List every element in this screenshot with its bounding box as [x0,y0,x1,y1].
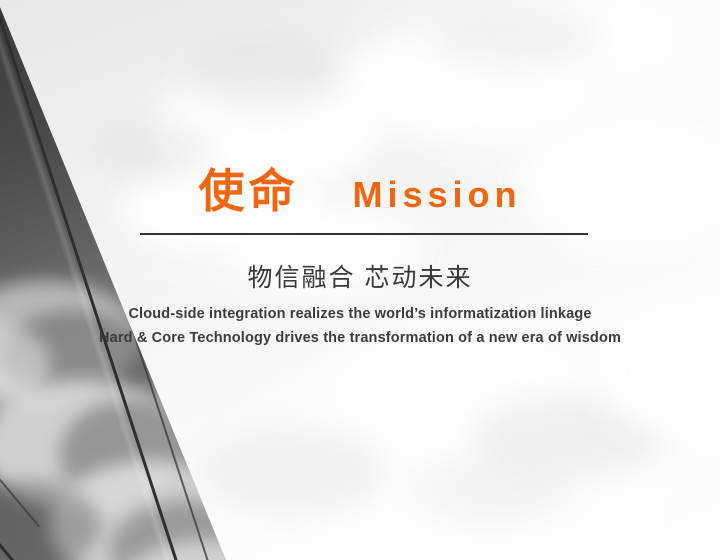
subtitle-english-line-1: Cloud-side integration realizes the worl… [0,302,720,326]
subtitle-chinese: 物信融合 芯动未来 [0,258,720,294]
subtitle-english-line-2: Hard & Core Technology drives the transf… [0,326,720,350]
banner-heading: 使命 Mission [0,168,720,214]
mission-banner: 使命 Mission 物信融合 芯动未来 Cloud-side integrat… [0,0,720,560]
banner-content: 使命 Mission 物信融合 芯动未来 Cloud-side integrat… [0,0,720,560]
heading-english: Mission [352,177,521,213]
subtitle-english-block: Cloud-side integration realizes the worl… [0,302,720,350]
heading-divider [140,233,588,235]
heading-chinese: 使命 [198,168,298,214]
